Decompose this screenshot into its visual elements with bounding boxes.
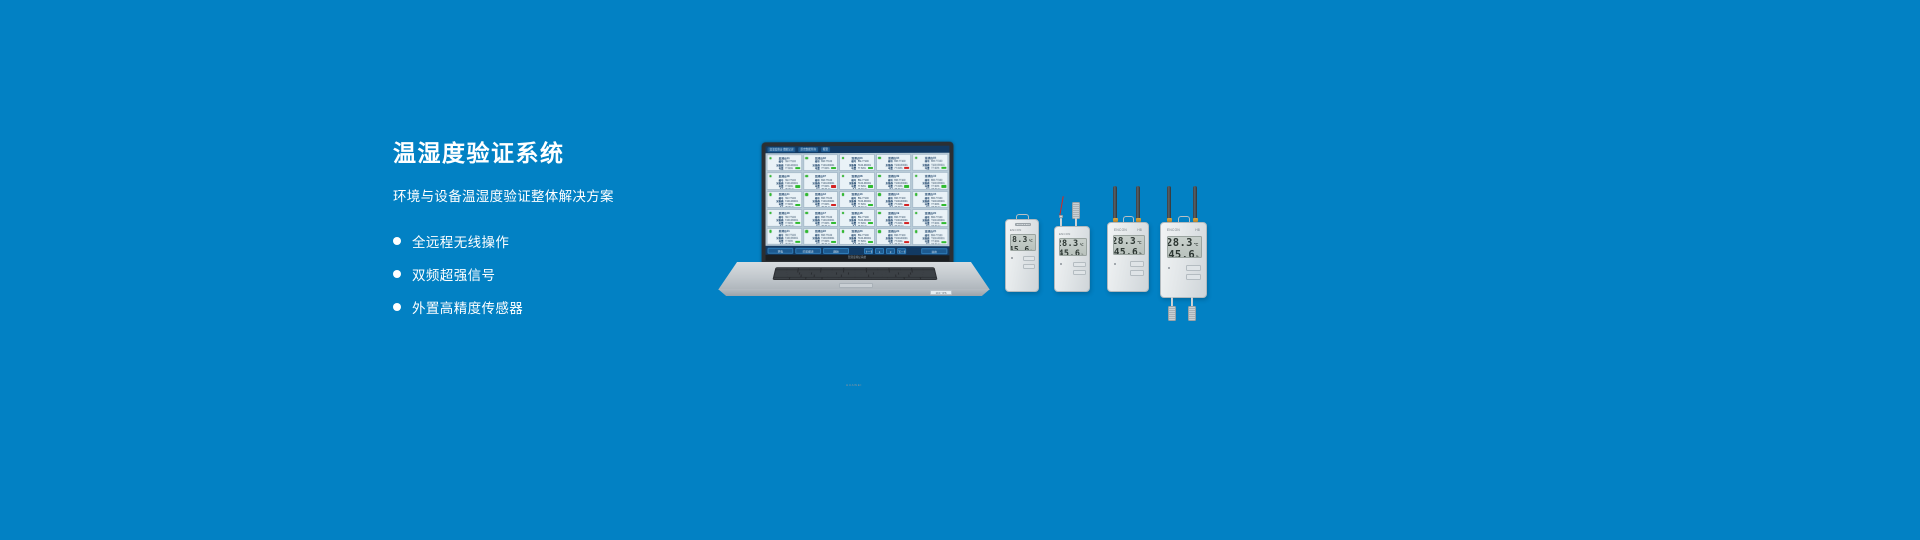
device-probe-logger: ENCON 28.3 ℃ 45.6 % [1052,196,1092,292]
monitor-panel[interactable]: 监测点13编号BM-77100采集器T100-R0001电量77.60%T-12… [839,191,875,208]
panel-row: T-128.30 ℃ [919,206,947,208]
keyboard-key[interactable] [920,277,936,279]
panel-row-value: 28.30 ℃ [931,225,946,227]
panel-row-value: 28.30 ℃ [894,206,909,208]
menubar-item[interactable]: 报警 [821,147,830,152]
lcd-humidity-value: 45.6 [1059,250,1080,256]
panel-title: 监测点12 [805,193,836,196]
status-led-icon [1011,257,1013,259]
lcd-humidity-unit: % [1196,251,1199,258]
probe-sensor-head [1072,202,1080,219]
device-model-label: H8 [1137,228,1142,232]
panel-row-list: 编号BM-77100采集器T100-R0001电量77.60%T-128.30 … [841,197,873,208]
device-button-primary[interactable] [1023,256,1035,261]
panel-row-list: 编号BM-77100采集器T100-R0001电量77.60%T-128.30 … [805,197,836,208]
feature-bullet-item: 全远程无线操作 [393,228,723,253]
device-button-primary[interactable] [1186,265,1201,271]
device-model-label: H8 [1195,228,1200,232]
monitor-panel[interactable]: 监测点12编号BM-77100采集器T100-R0001电量77.60%T-12… [803,191,838,208]
device-brand-label: ENCON [1114,228,1127,232]
panel-status-dot-icon [769,230,772,233]
toolbar-button[interactable]: 更多 [768,247,794,253]
monitor-panel[interactable]: 监测点01编号BM-77100采集器T100-R0001电量77.60%T-12… [767,154,802,171]
panel-row-key: T-1 [772,243,783,245]
panel-row-list: 编号BM-77100采集器T100-R0001电量77.60%T-128.30 … [805,216,836,227]
laptop-lid: 温湿度验证·数据记录历史数据查询报警 监测点01编号BM-77100采集器T10… [762,142,954,265]
laptop-screen: 温湿度验证·数据记录历史数据查询报警 监测点01编号BM-77100采集器T10… [766,146,950,262]
panel-row-list: 编号BM-77100采集器T100-R0001电量77.60%T-128.30 … [841,160,873,171]
panel-row-key: T-1 [882,188,893,190]
promo-banner: 温湿度验证系统 环境与设备温湿度验证整体解决方案 全远程无线操作双频超强信号外置… [0,0,1920,540]
panel-row-key: T-1 [845,243,856,245]
panel-row-value: 28.30 ℃ [785,243,800,245]
device-dual-antenna-logger-a: ENCON H8 28.3 ℃ 45.6 % [1104,186,1152,292]
panel-row: T-128.30 ℃ [845,188,873,190]
device-button-primary[interactable] [1073,262,1086,267]
monitor-panel[interactable]: 监测点11编号BM-77100采集器T100-R0001电量77.60%T-12… [767,191,802,208]
panel-row-value: 28.30 ℃ [894,243,909,245]
lcd-temperature-value: 28.3 [1113,237,1136,247]
panel-row-list: 编号BM-77100采集器T100-R0001电量77.60%T-128.30 … [878,179,910,190]
monitor-panel[interactable]: 监测点23编号BM-77100采集器T100-R0001电量77.60%T-12… [839,228,875,245]
keyboard-key[interactable] [904,277,920,279]
monitor-panel[interactable]: 监测点09编号BM-77100采集器T100-R0001电量77.60%T-12… [876,172,912,189]
lcd-humidity-unit: % [1139,249,1142,255]
antenna-right-icon [1193,186,1197,220]
antenna-left-icon [1167,186,1171,220]
lcd-temperature-value: 28.3 [1167,238,1193,249]
lcd-temperature-value: 28.3 [1010,236,1028,245]
monitor-panel[interactable]: 监测点22编号BM-77100采集器T100-R0001电量77.60%T-12… [803,228,838,245]
laptop-brand-label: HUAWEI [846,383,862,387]
panel-row-list: 编号BM-77100采集器T100-R0001电量77.60%T-128.30 … [915,179,947,190]
monitor-panel[interactable]: 监测点15编号BM-77100采集器T100-R0001电量77.60%T-12… [913,191,949,208]
panel-row: T-128.30 ℃ [772,243,799,245]
panel-row: T-128.30 ℃ [882,188,910,190]
panel-row-list: 编号BM-77100采集器T100-R0001电量77.60%T-128.30 … [878,216,910,227]
lcd-temperature-unit: ℃ [1080,241,1084,250]
keyboard-key[interactable] [855,277,871,279]
panel-row: T-128.30 ℃ [882,170,910,172]
panel-row-key: T-1 [809,243,820,245]
panel-row-value: 28.30 ℃ [858,170,873,172]
keyboard-row [773,277,936,279]
panel-row-key: T-1 [882,170,893,172]
panel-row-key: T-1 [882,243,893,245]
panel-row: T-128.30 ℃ [809,243,836,245]
panel-row-value: 28.30 ℃ [894,170,909,172]
panel-title: 监测点11 [769,193,800,196]
monitor-panel[interactable]: 监测点17编号BM-77100采集器T100-R0001电量77.60%T-12… [803,209,838,226]
feature-bullet-item: 外置高精度传感器 [393,294,723,319]
panel-title: 监测点15 [915,193,947,196]
panel-row-list: 编号BM-77100采集器T100-R0001电量77.60%T-128.30 … [878,197,910,208]
panel-row-list: 编号BM-77100采集器T100-R0001电量77.60%T-128.30 … [841,234,873,245]
panel-row-value: 28.30 ℃ [858,225,873,227]
feature-bullet-label: 全远程无线操作 [412,231,509,251]
device-dual-antenna-logger-b: ENCON H8 28.3 ℃ 45.6 % [1157,186,1211,321]
device-button-secondary[interactable] [1186,274,1201,280]
keyboard-key[interactable] [872,277,888,279]
laptop-keyboard [772,267,937,280]
panel-status-dot-icon [878,193,881,196]
panel-row-value: 28.30 ℃ [931,170,946,172]
panel-row: T-128.30 ℃ [882,243,910,245]
probe-cable [1059,196,1064,216]
toolbar-button[interactable]: 刷新 [823,247,849,253]
monitor-panel[interactable]: 监测点20编号BM-77100采集器T100-R0001电量77.60%T-12… [913,209,949,227]
lcd-humidity-value: 45.6 [1010,246,1030,252]
panel-row-key: T-1 [772,225,783,227]
panel-row-value: 28.30 ℃ [821,170,836,172]
monitor-panel[interactable]: 监测点14编号BM-77100采集器T100-R0001电量77.60%T-12… [876,191,912,208]
monitor-panel[interactable]: 监测点02编号BM-77100采集器T100-R0001电量77.60%T-12… [803,154,838,171]
status-led-icon [1168,267,1170,269]
pager-button[interactable]: 上一页 [864,248,873,254]
panel-row-list: 编号BM-77100采集器T100-R0001电量77.60%T-128.30 … [841,179,873,190]
app-statusbar: 温湿度验证系统 [766,255,950,262]
monitor-panel[interactable]: 监测点04编号BM-77100采集器T100-R0001电量77.60%T-12… [876,154,912,172]
panel-row: T-128.30 ℃ [809,170,836,172]
panel-row-list: 编号BM-77100采集器T100-R0001电量77.60%T-128.30 … [915,197,947,208]
device-button-primary[interactable] [1130,261,1144,267]
status-led-icon [1060,263,1062,265]
monitor-panel[interactable]: 监测点21编号BM-77100采集器T100-R0001电量77.60%T-12… [767,227,802,244]
panel-status-dot-icon [769,193,772,196]
panel-row-key: T-1 [809,188,820,190]
panel-row-key: T-1 [845,188,856,190]
panel-status-dot-icon [878,230,881,233]
monitor-panel[interactable]: 监测点06编号BM-77100采集器T100-R0001电量77.60%T-12… [767,172,802,189]
keyboard-key[interactable] [888,277,904,279]
lcd-humidity-unit: % [1081,251,1084,256]
monitor-panel[interactable]: 监测点18编号BM-77100采集器T100-R0001电量77.60%T-12… [839,209,875,226]
device-brand-label: ENCON [1010,228,1022,232]
panel-row: T-128.30 ℃ [809,225,836,227]
laptop-spec-sticker: 10.1" IPS [930,290,952,295]
device-lcd-display: 28.3 ℃ 45.6 % [1113,235,1145,255]
panel-row-key: T-1 [772,188,783,190]
panel-status-dot-icon [805,193,808,196]
panel-row-value: 28.30 ℃ [894,188,909,190]
panel-row: T-128.30 ℃ [919,170,947,172]
monitor-panel[interactable]: 监测点24编号BM-77100采集器T100-R0001电量77.60%T-12… [876,228,912,245]
monitor-panel[interactable]: 监测点10编号BM-77100采集器T100-R0001电量77.60%T-12… [913,172,949,190]
panel-row-value: 28.30 ℃ [821,243,836,245]
device-body: ENCON H8 28.3 ℃ 45.6 % [1107,222,1149,292]
device-brand-label: ENCON [1167,228,1180,232]
panel-row-value: 28.30 ℃ [785,206,800,208]
device-body: ENCON H8 28.3 ℃ 45.6 % [1160,222,1207,298]
panel-row-list: 编号BM-77100采集器T100-R0001电量77.60%T-128.30 … [915,216,947,227]
feature-bullet-label: 外置高精度传感器 [412,297,523,317]
panel-row: T-128.30 ℃ [809,188,836,190]
panel-row-list: 编号BM-77100采集器T100-R0001电量77.60%T-128.30 … [841,216,873,227]
panel-row-key: T-1 [772,170,783,172]
page-title: 温湿度验证系统 [393,141,723,166]
device-brand-label: ENCON [1059,232,1071,236]
feature-bullet-label: 双频超强信号 [412,264,495,284]
bottom-probe-head-a [1168,306,1176,321]
bullet-dot-icon [393,237,401,245]
panel-row-key: T-1 [809,225,820,227]
panel-row-key: T-1 [919,243,930,245]
panel-row: T-128.30 ℃ [809,206,836,208]
panel-row-key: T-1 [919,188,930,190]
panel-row-value: 28.30 ℃ [821,206,836,208]
panel-row-value: 28.30 ℃ [931,206,946,208]
device-lcd-display: 28.3 ℃ 45.6 % [1010,234,1036,251]
panel-row-value: 28.30 ℃ [894,225,909,227]
keyboard-key[interactable] [790,277,806,279]
panel-row: T-128.30 ℃ [845,225,873,227]
laptop-illustration: 温湿度验证·数据记录历史数据查询报警 监测点01编号BM-77100采集器T10… [718,142,990,297]
monitor-panel[interactable]: 监测点08编号BM-77100采集器T100-R0001电量77.60%T-12… [839,172,875,189]
panel-status-dot-icon [878,156,881,159]
panel-row-key: T-1 [919,206,930,208]
device-button-secondary[interactable] [1073,270,1086,275]
laptop-base: HUAWEI 10.1" IPS [718,262,990,297]
panel-row-key: T-1 [919,225,930,227]
panel-row: T-128.30 ℃ [845,243,873,245]
keyboard-key[interactable] [773,277,789,279]
panel-row: T-128.30 ℃ [772,170,799,172]
menubar-item[interactable]: 历史数据查询 [798,147,817,152]
panel-row-list: 编号BM-77100采集器T100-R0001电量77.60%T-128.30 … [805,234,836,245]
device-lcd-display: 28.3 ℃ 45.6 % [1167,236,1202,258]
panel-row-key: T-1 [809,170,820,172]
panel-row: T-128.30 ℃ [919,225,947,227]
panel-row-key: T-1 [809,206,820,208]
sensor-vent-icon [1015,223,1031,226]
panel-row-list: 编号BM-77100采集器T100-R0001电量77.60%T-128.30 … [769,197,800,208]
panel-row-list: 编号BM-77100采集器T100-R0001电量77.60%T-128.30 … [878,160,910,171]
monitor-panel[interactable]: 监测点25编号BM-77100采集器T100-R0001电量77.60%T-12… [913,228,949,246]
panel-row-value: 28.30 ℃ [858,188,873,190]
panel-title: 监测点18 [841,212,873,215]
panel-row-key: T-1 [845,225,856,227]
bullet-dot-icon [393,270,401,278]
panel-status-dot-icon [805,157,808,160]
device-wall-mount-logger: ENCON 28.3 ℃ 45.6 % [1005,214,1039,292]
panel-title: 监测点16 [769,212,800,215]
panel-row: T-128.30 ℃ [772,188,799,190]
pager-button[interactable]: 下一页 [897,248,906,254]
antenna-right-icon [1136,186,1140,220]
keyboard-key[interactable] [823,277,839,279]
device-lcd-display: 28.3 ℃ 45.6 % [1059,238,1087,256]
panel-row-list: 编号BM-77100采集器T100-R0001电量77.60%T-128.30 … [769,216,800,227]
exit-button[interactable]: 退出 [921,248,947,254]
monitor-panel[interactable]: 监测点19编号BM-77100采集器T100-R0001电量77.60%T-12… [876,209,912,226]
panel-title: 监测点19 [878,212,910,215]
panel-row: T-128.30 ℃ [882,206,910,208]
panel-row-list: 编号BM-77100采集器T100-R0001电量77.60%T-128.30 … [878,234,910,245]
panel-row-list: 编号BM-77100采集器T100-R0001电量77.60%T-128.30 … [805,179,836,190]
panel-row-list: 编号BM-77100采集器T100-R0001电量77.60%T-128.30 … [769,234,800,245]
panel-status-dot-icon [769,157,772,160]
toolbar-button[interactable]: 打印报表 [795,247,821,253]
panel-row: T-128.30 ℃ [845,206,873,208]
monitor-panel[interactable]: 监测点05编号BM-77100采集器T100-R0001电量77.60%T-12… [913,154,949,172]
panel-row-key: T-1 [919,170,930,172]
panel-row-list: 编号BM-77100采集器T100-R0001电量77.60%T-128.30 … [805,160,836,171]
laptop-deck [718,262,990,290]
panel-row-list: 编号BM-77100采集器T100-R0001电量77.60%T-128.30 … [769,161,800,172]
keyboard-key[interactable] [806,277,822,279]
keyboard-key[interactable] [839,277,855,279]
bottom-probe-head-b [1188,306,1196,321]
panel-title: 监测点13 [841,193,873,196]
feature-bullet-item: 双频超强信号 [393,261,723,286]
page-subtitle: 环境与设备温湿度验证整体解决方案 [393,185,723,205]
menubar-item[interactable]: 温湿度验证·数据记录 [768,147,796,152]
panel-row-list: 编号BM-77100采集器T100-R0001电量77.60%T-128.30 … [769,179,800,190]
device-button-secondary[interactable] [1023,264,1035,269]
pager-button[interactable]: 2 [886,248,895,254]
panel-title: 监测点14 [878,193,910,196]
panel-row-key: T-1 [845,206,856,208]
lcd-temperature-value: 28.3 [1059,240,1079,249]
panel-row-value: 28.30 ℃ [785,225,800,227]
panel-row-value: 28.30 ℃ [821,225,836,227]
antenna-left-icon [1113,186,1117,220]
pager-button[interactable]: 1 [875,248,884,254]
device-body: ENCON 28.3 ℃ 45.6 % [1054,226,1090,292]
panel-row-list: 编号BM-77100采集器T100-R0001电量77.60%T-128.30 … [915,234,947,245]
panel-row-list: 编号BM-77100采集器T100-R0001电量77.60%T-128.30 … [915,160,947,171]
panel-row-value: 28.30 ℃ [931,188,946,190]
status-led-icon [1114,263,1116,265]
panel-row: T-128.30 ℃ [882,225,910,227]
monitor-panel[interactable]: 监测点16编号BM-77100采集器T100-R0001电量77.60%T-12… [767,209,802,226]
panel-row-key: T-1 [882,206,893,208]
copy-block: 温湿度验证系统 环境与设备温湿度验证整体解决方案 全远程无线操作双频超强信号外置… [393,141,723,327]
panel-status-dot-icon [805,230,808,233]
lcd-humidity-value: 45.6 [1114,248,1138,255]
monitor-panel[interactable]: 监测点07编号BM-77100采集器T100-R0001电量77.60%T-12… [803,172,838,189]
panel-row: T-128.30 ℃ [845,170,873,172]
panel-row-key: T-1 [882,225,893,227]
panel-row-value: 28.30 ℃ [858,243,873,245]
panel-row: T-128.30 ℃ [919,243,947,245]
panel-row-value: 28.30 ℃ [821,188,836,190]
panel-row-value: 28.30 ℃ [858,206,873,208]
panel-row-key: T-1 [845,170,856,172]
lcd-humidity-unit: % [1031,247,1033,252]
panel-row-value: 28.30 ℃ [785,188,800,190]
panel-row-value: 28.30 ℃ [785,170,800,172]
panel-row: T-128.30 ℃ [919,188,947,190]
monitor-panel[interactable]: 监测点03编号BM-77100采集器T100-R0001电量77.60%T-12… [839,154,875,171]
lcd-humidity-value: 45.6 [1168,250,1195,258]
panel-row-key: T-1 [772,206,783,208]
device-button-secondary[interactable] [1130,270,1144,276]
bullet-dot-icon [393,303,401,311]
laptop-trackpad [839,283,873,288]
feature-bullet-list: 全远程无线操作双频超强信号外置高精度传感器 [393,228,723,319]
device-body: ENCON 28.3 ℃ 45.6 % [1005,219,1039,292]
monitor-panel-grid: 监测点01编号BM-77100采集器T100-R0001电量77.60%T-12… [766,153,950,247]
panel-row: T-128.30 ℃ [772,225,799,227]
panel-row: T-128.30 ℃ [772,206,799,208]
panel-row-value: 28.30 ℃ [931,243,946,245]
